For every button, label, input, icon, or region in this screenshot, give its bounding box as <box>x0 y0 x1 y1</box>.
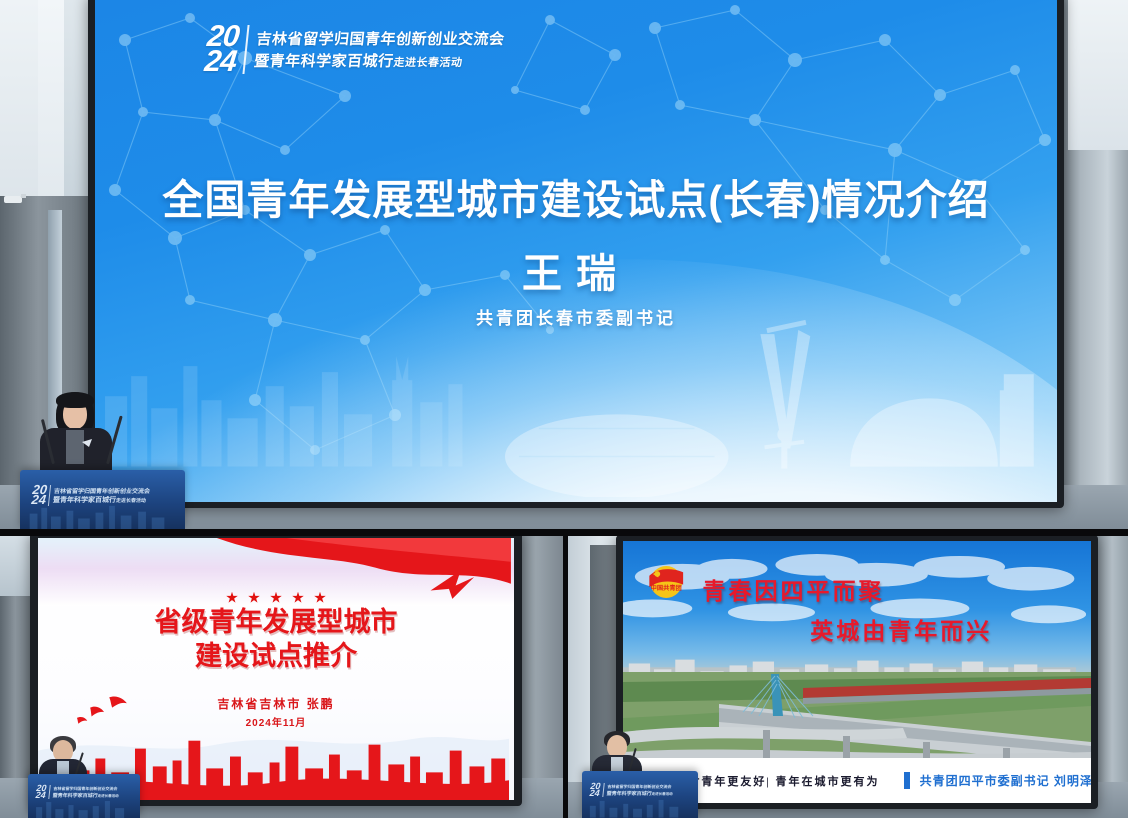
led-wall-screen-bl: 省级青年发展型城市 建设试点推介 吉林省吉林市 张鹏 2024年11月 <box>38 538 514 800</box>
slide-title-bl-line1: 省级青年发展型城市 <box>38 606 514 640</box>
podium-event-logo: 20 24 吉林省留学归国青年创新创业交流会 暨青年科学家百城行走进长春活动 <box>30 485 150 506</box>
podium-logo-year-br: 20 24 <box>589 783 601 797</box>
communist-youth-league-emblem-icon: 中国共青团 <box>644 554 688 606</box>
slide-speaker-role: 共青团长春市委副书记 <box>95 304 1057 329</box>
slide-background-photo: 中国共青团 青春因四平而聚 英城由青年而兴 城市对青年更友好| 青年在城市更有为… <box>623 541 1091 803</box>
stage-photo-top: 20 24 吉林省留学归国青年创新创业交流会 暨青年科学家百城行走进长春活动 全… <box>0 0 1128 529</box>
changchun-landmark-silhouettes <box>499 316 1038 497</box>
slide-title-bl-line2: 建设试点推介 <box>38 640 514 674</box>
podium-logo-line2-bl: 暨青年科学家百城行走进长春活动 <box>52 792 119 799</box>
podium-logo-year: 20 24 <box>30 485 47 506</box>
podium-skyline-graphic-br <box>582 796 696 818</box>
panel-divider-vertical <box>563 529 568 818</box>
podium-logo-bar-bl <box>48 785 51 799</box>
slide-title-br-line2: 英城由青年而兴 <box>810 612 992 646</box>
slide-background-blue: 20 24 吉林省留学归国青年创新创业交流会 暨青年科学家百城行走进长春活动 全… <box>95 0 1057 502</box>
screenshot-root: 20 24 吉林省留学归国青年创新创业交流会 暨青年科学家百城行走进长春活动 全… <box>0 0 1128 818</box>
logo-text-line2: 暨青年科学家百城行走进长春活动 <box>253 50 503 71</box>
slide-background-red: 省级青年发展型城市 建设试点推介 吉林省吉林市 张鹏 2024年11月 <box>38 538 514 800</box>
footer-bar-icon-2 <box>904 772 910 789</box>
podium-logo-line2: 暨青年科学家百城行走进长春活动 <box>52 495 149 505</box>
lapel-pin-icon <box>80 436 94 450</box>
event-logo-lockup: 20 24 吉林省留学归国青年创新创业交流会 暨青年科学家百城行走进长春活动 <box>203 25 506 74</box>
podium-event-logo-bl: 20 24 吉林省留学归国青年创新创业交流会 暨青年科学家百城行走进长春活动 <box>35 785 120 799</box>
star-icon <box>226 592 238 604</box>
star-icon <box>292 592 304 604</box>
podium-logo-text-bl: 吉林省留学归国青年创新创业交流会 暨青年科学家百城行走进长春活动 <box>52 786 119 799</box>
logo-text-line2-main: 暨青年科学家百城行 <box>253 53 394 70</box>
podium-top: 20 24 吉林省留学归国青年创新创业交流会 暨青年科学家百城行走进长春活动 <box>20 470 185 529</box>
logo-text-line1: 吉林省留学归国青年创新创业交流会 <box>255 28 505 49</box>
podium-logo-line2-br: 暨青年科学家百城行走进长春活动 <box>606 790 673 797</box>
podium-br: 20 24 吉林省留学归国青年创新创业交流会 暨青年科学家百城行走进长春活动 <box>582 771 698 818</box>
slide-title-bl: 省级青年发展型城市 建设试点推介 <box>38 606 514 674</box>
star-row <box>226 592 326 604</box>
star-icon <box>314 592 326 604</box>
podium-bl: 20 24 吉林省留学归国青年创新创业交流会 暨青年科学家百城行走进长春活动 <box>28 774 140 818</box>
security-camera-icon <box>2 192 28 208</box>
bridge-highway-photo <box>623 672 1091 772</box>
podium-logo-text-br: 吉林省留学归国青年创新创业交流会 暨青年科学家百城行走进长春活动 <box>606 784 673 797</box>
podium-logo-year-bl: 20 24 <box>35 785 47 799</box>
footer-credit-br: 共青团四平市委副书记 刘明泽 <box>920 772 1091 789</box>
slide-title-top: 全国青年发展型城市建设试点(长春)情况介绍 <box>95 166 1057 226</box>
svg-text:中国共青团: 中国共青团 <box>651 584 682 592</box>
event-logo-year: 20 24 <box>203 25 240 74</box>
stage-photo-bottom-right: 中国共青团 青春因四平而聚 英城由青年而兴 城市对青年更友好| 青年在城市更有为… <box>568 531 1128 818</box>
podium-logo-line1: 吉林省留学归国青年创新创业交流会 <box>53 486 150 495</box>
star-icon <box>270 592 282 604</box>
event-logo-text: 吉林省留学归国青年创新创业交流会 暨青年科学家百城行走进长春活动 <box>253 28 506 71</box>
logo-text-line2-small: 走进长春活动 <box>392 57 462 69</box>
wall-panel-2 <box>38 0 64 200</box>
slide-speaker-name: 王瑞 <box>95 241 1057 299</box>
led-wall-screen-top: 20 24 吉林省留学归国青年创新创业交流会 暨青年科学家百城行走进长春活动 全… <box>95 0 1057 502</box>
slide-title-br-line1: 青春因四平而聚 <box>703 572 885 606</box>
podium-skyline-graphic-bl <box>28 798 140 818</box>
logo-year-bottom: 24 <box>203 50 237 75</box>
podium-logo-bar-br <box>602 783 605 797</box>
logo-divider-bar <box>242 25 249 74</box>
stage-photo-bottom-left: 省级青年发展型城市 建设试点推介 吉林省吉林市 张鹏 2024年11月 <box>0 536 563 818</box>
podium-logo-bar <box>48 485 51 506</box>
podium-logo-text: 吉林省留学归国青年创新创业交流会 暨青年科学家百城行走进长春活动 <box>52 486 150 505</box>
red-bird-icon <box>419 562 486 604</box>
wall-panel-right <box>1068 0 1128 150</box>
podium-event-logo-br: 20 24 吉林省留学归国青年创新创业交流会 暨青年科学家百城行走进长春活动 <box>589 783 674 797</box>
led-wall-screen-br: 中国共青团 青春因四平而聚 英城由青年而兴 城市对青年更友好| 青年在城市更有为… <box>623 541 1091 803</box>
wall-panel <box>0 0 40 220</box>
star-icon <box>248 592 260 604</box>
